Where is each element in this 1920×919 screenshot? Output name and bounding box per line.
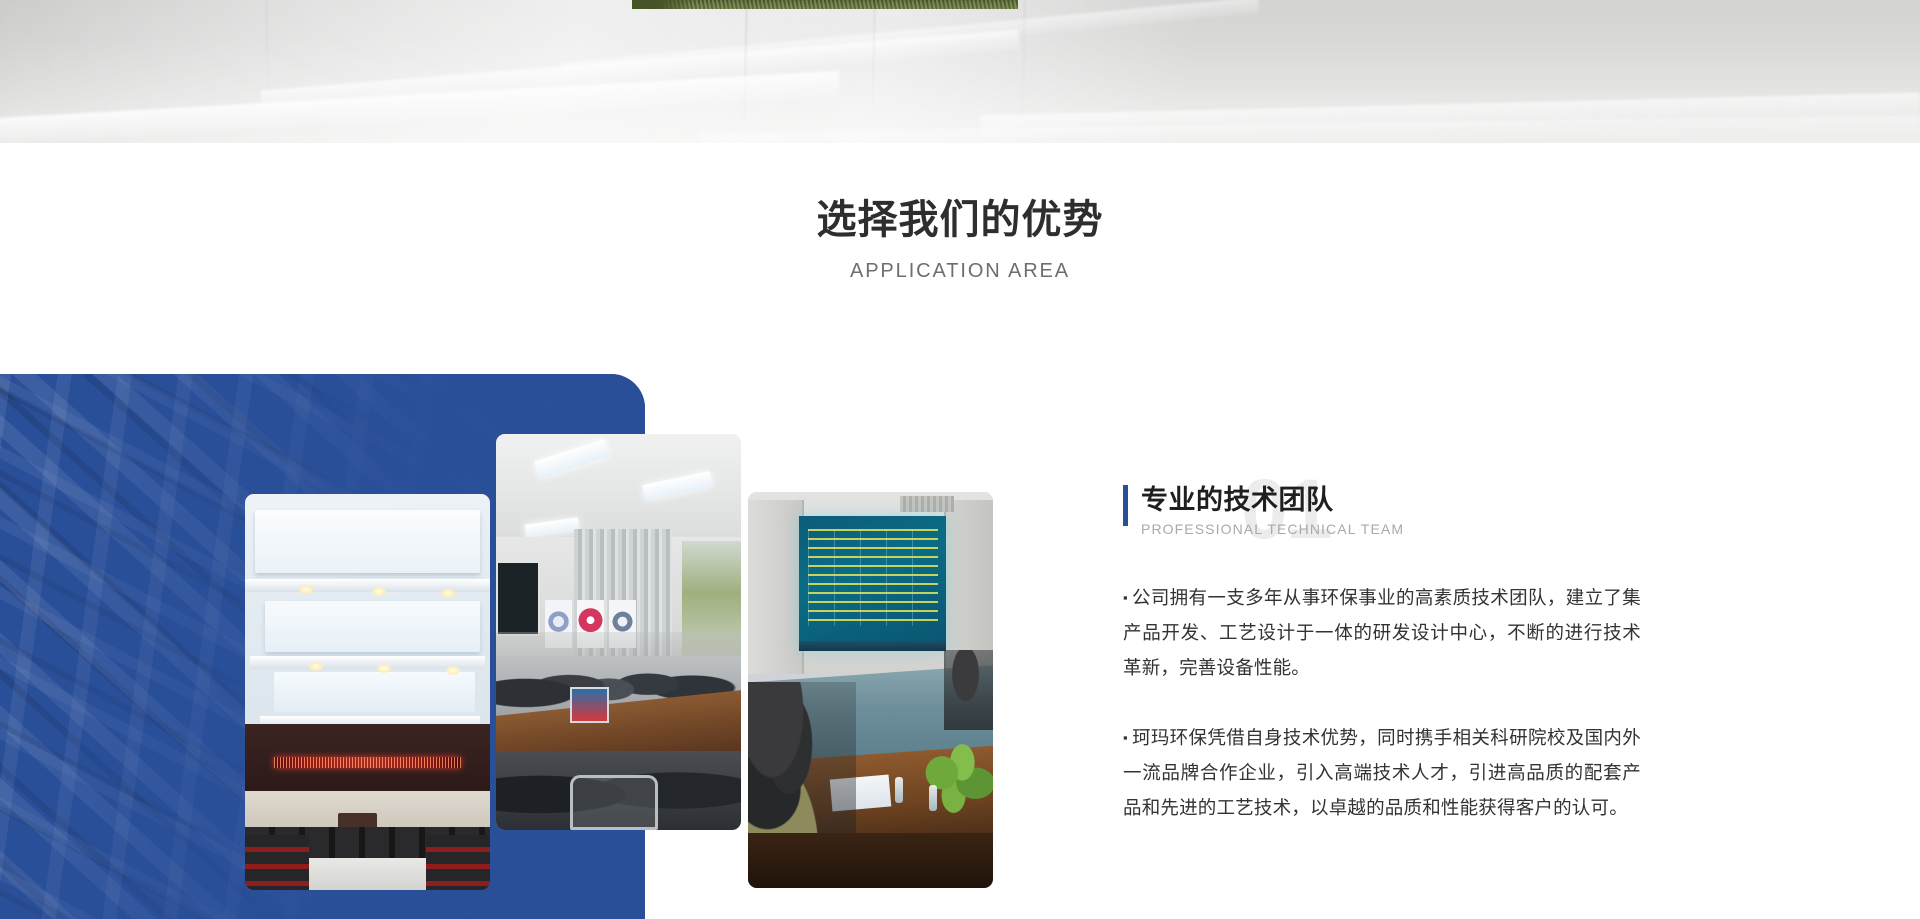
photo-region (944, 500, 993, 674)
feature-paragraph-text: 珂玛环保凭借自身技术优势，同时携手相关科研院校及国内外一流品牌合作企业，引入高端… (1123, 727, 1641, 818)
section-title: 选择我们的优势 (0, 196, 1920, 244)
photo-region (255, 510, 480, 573)
photo-region (748, 833, 993, 888)
feature-body: ▪公司拥有一支多年从事环保事业的高素质技术团队，建立了集产品开发、工艺设计于一体… (1123, 580, 1663, 825)
photo-region (299, 585, 313, 594)
photo-region (265, 601, 481, 652)
photo-region (274, 672, 475, 712)
photo-region (748, 500, 804, 674)
photo-region (944, 650, 993, 729)
photo-region (570, 687, 609, 723)
photo-region (245, 835, 309, 890)
photo-region (895, 777, 903, 803)
bullet-icon: ▪ (1123, 590, 1128, 605)
band-riser (871, 0, 877, 132)
feature-heading-row: 01 专业的技术团队 PROFESSIONAL TECHNICAL TEAM (1123, 482, 1663, 552)
photo-region (929, 785, 937, 811)
accent-bar (1123, 485, 1128, 526)
photo-region (426, 835, 490, 890)
section-subtitle: APPLICATION AREA (0, 260, 1920, 283)
photo-projection-screen (799, 516, 946, 651)
advantages-section-page: 选择我们的优势 APPLICATION AREA (0, 0, 1920, 919)
gallery-photo-meeting-room[interactable] (496, 434, 741, 830)
feature-paragraph-text: 公司拥有一支多年从事环保事业的高素质技术团队，建立了集产品开发、工艺设计于一体的… (1123, 587, 1641, 678)
photo-led-banner (274, 757, 460, 767)
feature-content: 01 专业的技术团队 PROFESSIONAL TECHNICAL TEAM ▪… (1123, 482, 1663, 825)
photo-region (900, 496, 954, 512)
feature-heading-cn: 专业的技术团队 (1141, 482, 1334, 518)
photo-region (309, 858, 427, 890)
feature-heading-en: PROFESSIONAL TECHNICAL TEAM (1141, 521, 1404, 537)
photo-region (441, 589, 455, 598)
photo-region (799, 641, 946, 651)
feature-paragraph: ▪公司拥有一支多年从事环保事业的高素质技术团队，建立了集产品开发、工艺设计于一体… (1123, 580, 1641, 685)
gallery-photo-conference-hall[interactable] (245, 494, 490, 890)
photo-region (920, 738, 994, 825)
photo-region (496, 561, 540, 636)
hero-band-tail (0, 0, 1920, 143)
photo-region (570, 775, 658, 830)
hero-grass-strip (632, 0, 1018, 9)
feature-paragraph: ▪珂玛环保凭借自身技术优势，同时携手相关科研院校及国内外一流品牌合作企业，引入高… (1123, 720, 1641, 825)
gallery-photo-presentation-room[interactable] (748, 492, 993, 888)
section-header: 选择我们的优势 APPLICATION AREA (0, 196, 1920, 283)
bullet-icon: ▪ (1123, 730, 1128, 745)
